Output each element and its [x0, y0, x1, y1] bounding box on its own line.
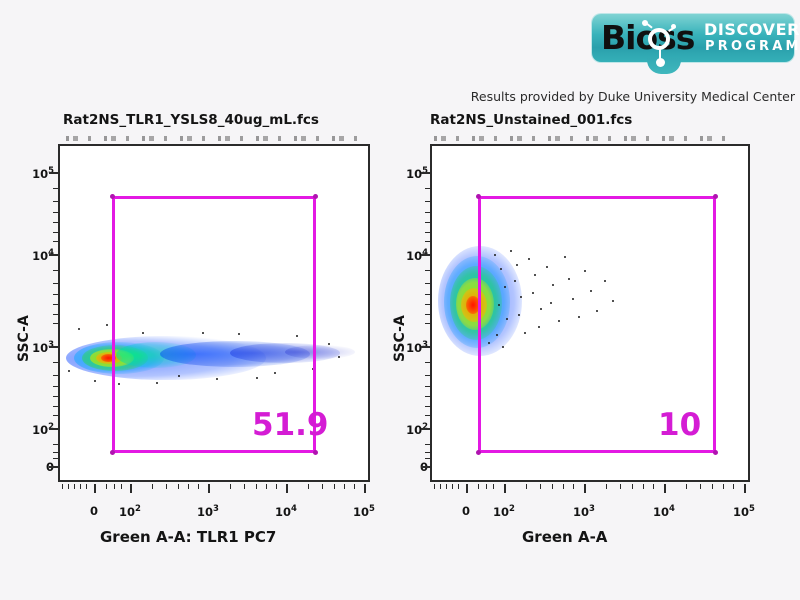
- results-attribution-caption: Results provided by Duke University Medi…: [0, 89, 795, 104]
- molecule-node-icon: [656, 58, 665, 67]
- x-tick-label: 102: [493, 504, 515, 519]
- x-tick-label: 105: [353, 504, 375, 519]
- molecule-node-icon: [671, 24, 676, 29]
- plot-frame[interactable]: 10: [430, 144, 750, 482]
- gate-percentage-label: 10: [658, 410, 701, 441]
- plot-title: Rat2NS_TLR1_YSLS8_40ug_mL.fcs: [63, 112, 319, 128]
- gate-vertex-handle[interactable]: [110, 450, 115, 455]
- x-tick-label: 103: [197, 504, 219, 519]
- y-axis-tick-labels: 105 104 103 102 0: [392, 144, 428, 482]
- gate-vertex-handle[interactable]: [713, 194, 718, 199]
- plot-title: Rat2NS_Unstained_001.fcs: [430, 112, 632, 128]
- x-tick-label: 105: [733, 504, 755, 519]
- x-axis-label: Green A-A: [522, 528, 607, 546]
- gate-vertex-handle[interactable]: [713, 450, 718, 455]
- x-axis-label: Green A-A: TLR1 PC7: [100, 528, 276, 546]
- gate-vertex-handle[interactable]: [110, 194, 115, 199]
- y-axis-tick-labels: 105 104 103 102 0: [18, 144, 54, 482]
- x-tick-label: 103: [573, 504, 595, 519]
- x-axis-tick-marks: [430, 484, 750, 494]
- gate-vertex-handle[interactable]: [476, 194, 481, 199]
- x-tick-label: 104: [275, 504, 297, 519]
- gate-vertex-handle[interactable]: [313, 194, 318, 199]
- x-tick-label: 102: [119, 504, 141, 519]
- x-axis-tick-marks: [58, 484, 370, 494]
- logo-program-text: PROGRAM: [705, 39, 800, 54]
- gate-vertex-handle[interactable]: [476, 450, 481, 455]
- x-tick-label: 0: [462, 504, 470, 518]
- scan-artifact-strip: [66, 136, 366, 141]
- scan-artifact-strip: [434, 136, 734, 141]
- plot-frame[interactable]: 51.9: [58, 144, 370, 482]
- molecule-node-icon: [642, 20, 648, 26]
- bioss-logo: Bioss DISCOVERY PROGRAM: [592, 14, 794, 76]
- gate-percentage-label: 51.9: [252, 410, 329, 441]
- logo-discovery-text: DISCOVERY: [704, 20, 800, 39]
- gate-vertex-handle[interactable]: [313, 450, 318, 455]
- x-tick-label: 104: [653, 504, 675, 519]
- molecule-ring-icon: [648, 28, 670, 50]
- x-tick-label: 0: [90, 504, 98, 518]
